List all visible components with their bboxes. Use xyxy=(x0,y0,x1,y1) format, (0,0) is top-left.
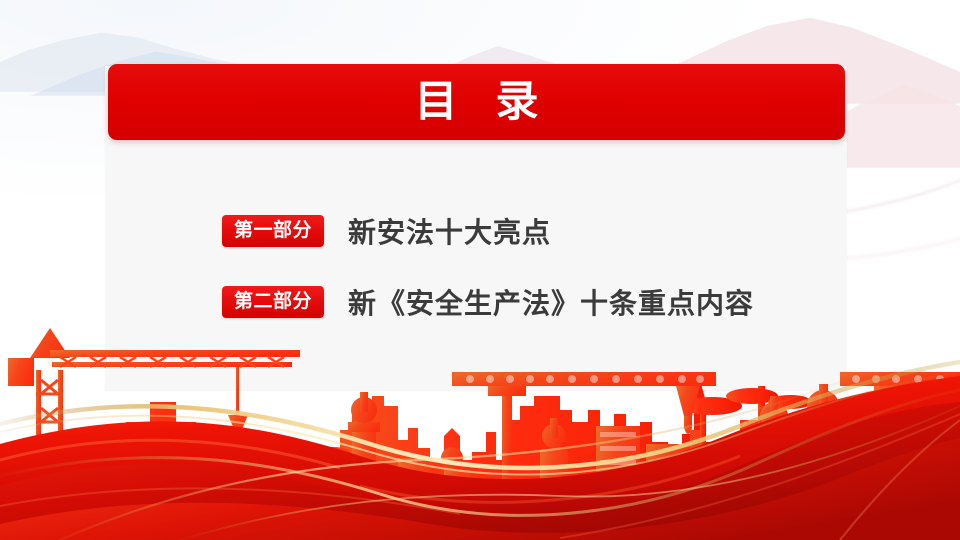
toc-badge-part-1: 第一部分 xyxy=(222,215,324,247)
toc-list: 第一部分 新安法十大亮点 第二部分 新《安全生产法》十条重点内容 xyxy=(222,213,832,320)
toc-badge-part-2: 第二部分 xyxy=(222,286,324,318)
toc-label-part-1: 新安法十大亮点 xyxy=(348,211,551,251)
toc-label-part-2: 新《安全生产法》十条重点内容 xyxy=(348,282,754,322)
slide-canvas: 目 录 第一部分 新安法十大亮点 第二部分 新《安全生产法》十条重点内容 xyxy=(0,0,960,540)
toc-item-1[interactable]: 第一部分 新安法十大亮点 xyxy=(222,213,832,249)
toc-item-2[interactable]: 第二部分 新《安全生产法》十条重点内容 xyxy=(222,284,832,320)
page-title: 目 录 xyxy=(402,81,552,124)
title-banner: 目 录 xyxy=(108,64,845,140)
